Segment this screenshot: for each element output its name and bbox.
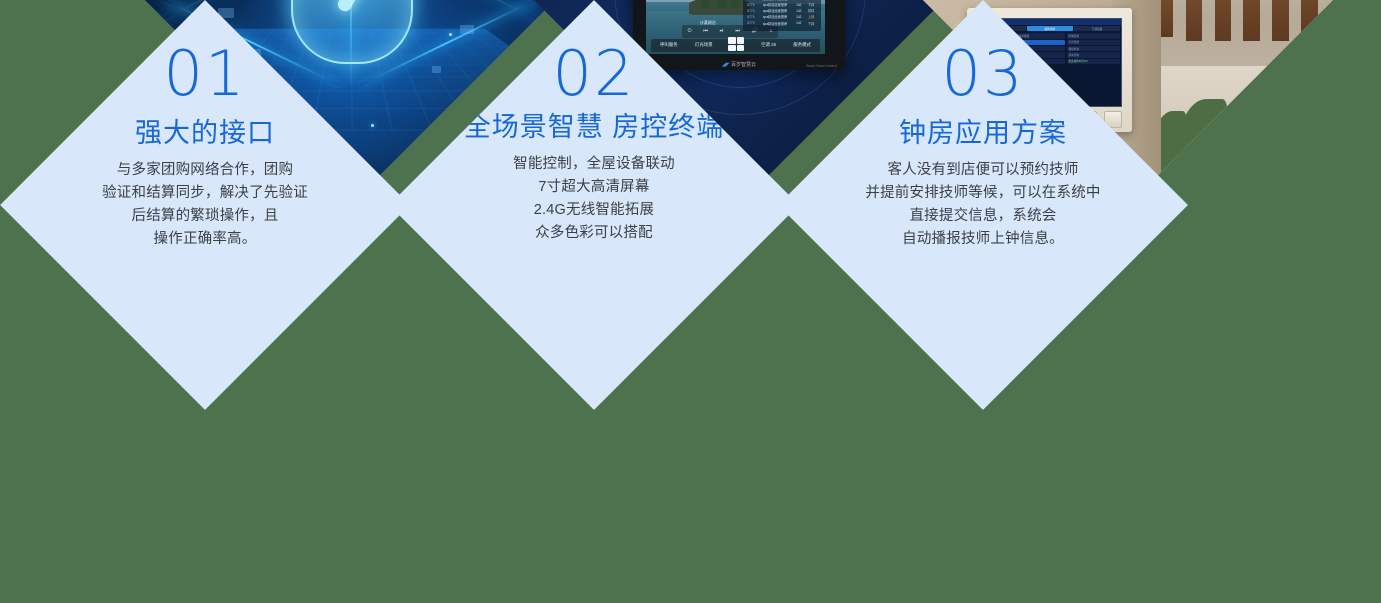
- circuit-node: [371, 124, 374, 127]
- bottom-btn-service-mode[interactable]: 服务模式: [793, 42, 811, 48]
- device-screen[interactable]: 沙漠湖泊 ⏻ ⏮ ⏯ ⏭ 🔊 ≡ 呼叫服务 灯光: [646, 0, 825, 54]
- cp-tab-2[interactable]: 空调设置: [1074, 26, 1120, 31]
- card-body-line: 众多色彩可以搭配: [513, 222, 675, 245]
- wood-slat: [1301, 0, 1317, 33]
- circuit-node: [449, 33, 452, 36]
- card-number-02: 02: [553, 43, 636, 105]
- cp-right-item-3[interactable]: 茶水控制: [1067, 52, 1120, 57]
- circuit-chip: [432, 66, 441, 73]
- bottom-btn-call-service[interactable]: 呼叫服务: [660, 42, 678, 48]
- card-body-03: 客人没有到店便可以预约技师 并提前安排技师等候，可以在系统中 直接提交信息，系统…: [865, 159, 1100, 251]
- card-body-line: 直接提交信息，系统会: [865, 205, 1100, 228]
- technician-table: 技师 项目 时长 状态 8778spa精油全身按摩142下钟 8709足底足疗养…: [746, 0, 819, 26]
- card-body-line: 验证和结算同步，解决了先验证: [102, 182, 308, 205]
- media-btn-power[interactable]: ⏻: [688, 28, 692, 34]
- cp-tab-1[interactable]: 技师控制: [1027, 26, 1073, 31]
- potted-plant: [1231, 124, 1276, 198]
- card-body-01: 与多家团购网络合作，团购 验证和结算同步，解决了先验证 后结算的繁琐操作，且 操…: [102, 159, 308, 251]
- device-model-text: Smart Home Control: [806, 64, 837, 68]
- card-body-line: 并提前安排技师等候，可以在系统中: [865, 182, 1100, 205]
- tree: [730, 0, 740, 8]
- card-heading-line: 房控终端: [612, 112, 724, 142]
- card-heading-01: 强大的接口: [135, 117, 275, 150]
- media-btn-next[interactable]: ⏭: [735, 28, 740, 34]
- card-body-line: 与多家团购网络合作，团购: [102, 159, 308, 182]
- card-heading-line: 钟房应用方案: [899, 118, 1067, 148]
- card-heading-02: 全场景智慧 房控终端: [464, 111, 725, 144]
- table-row: 8779spa精油全身按摩142下钟: [746, 20, 819, 26]
- cp-right-item-0[interactable]: 区域控制: [1067, 33, 1120, 38]
- cp-right-item-4[interactable]: 更多技师叫号1/2: [1067, 59, 1120, 64]
- circuit-chip: [460, 25, 474, 34]
- status-panel: 22:35 SPA6房 26°C 11/24 技师 项目: [743, 0, 822, 31]
- infographic-stage: CSIZBO 沙漠湖泊: [0, 0, 1381, 603]
- card-number-01: 01: [164, 43, 247, 105]
- card-body-line: 客人没有到店便可以预约技师: [865, 159, 1100, 182]
- card-body-line: 操作正确率高。: [102, 228, 308, 251]
- cp-right-item-2[interactable]: 窗帘控制: [1067, 46, 1120, 51]
- tree: [700, 0, 710, 8]
- card-body-line: 2.4G无线智能拓展: [513, 199, 675, 222]
- tree: [716, 0, 728, 8]
- card-body-line: 后结算的繁琐操作，且: [102, 205, 308, 228]
- wood-slat: [1243, 0, 1259, 41]
- cp-right-item-1[interactable]: 灯光控制: [1067, 40, 1120, 45]
- card-body-line: 7寸超大高清屏幕: [513, 176, 675, 199]
- table-body: 8778spa精油全身按摩142下钟 8709足底足疗养生保健142剩1150 …: [746, 0, 819, 26]
- bottom-btn-light-scene[interactable]: 灯光场景: [695, 42, 713, 48]
- card-body-line: 自动播报技师上钟信息。: [865, 228, 1100, 251]
- card-heading-line: 全场景智慧: [464, 112, 604, 142]
- logo-text: 百岁智慧云: [731, 62, 756, 68]
- app-grid-icon[interactable]: [728, 37, 744, 51]
- card-body-line: 智能控制，全屋设备联动: [513, 153, 675, 176]
- tablet-device: CSIZBO 沙漠湖泊: [633, 0, 845, 70]
- bottom-btn-aircon[interactable]: 空调 26: [761, 42, 776, 48]
- card-heading-03: 钟房应用方案: [899, 117, 1067, 150]
- media-btn-play[interactable]: ⏯: [720, 28, 724, 34]
- wood-slat: [1215, 0, 1231, 41]
- card-number-03: 03: [942, 43, 1025, 105]
- wood-slat: [1272, 0, 1288, 41]
- wood-slat: [1186, 0, 1202, 41]
- media-btn-prev[interactable]: ⏮: [703, 28, 708, 34]
- card-body-02: 智能控制，全屋设备联动 7寸超大高清屏幕 2.4G无线智能拓展 众多色彩可以搭配: [513, 153, 675, 245]
- logo-mark-icon: ◢◤: [722, 62, 730, 68]
- card-heading-line: 强大的接口: [135, 118, 275, 148]
